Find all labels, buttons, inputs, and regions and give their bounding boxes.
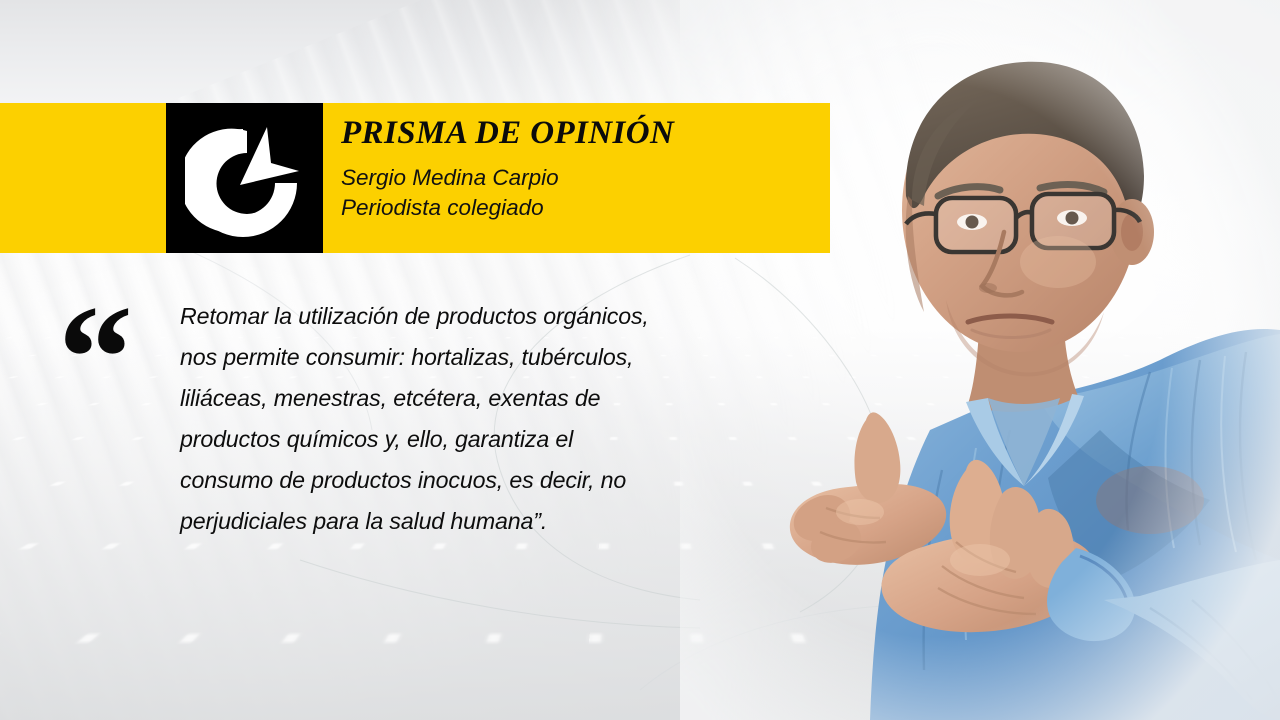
author-role: Periodista colegiado: [341, 193, 830, 223]
quote-line: liliáceas, menestras, etcétera, exentas …: [180, 378, 700, 419]
page-title: PRISMA DE OPINIÓN: [341, 116, 830, 151]
quote-text: Retomar la utilización de productos orgá…: [180, 296, 700, 542]
quote-line: nos permite consumir: hortalizas, tubérc…: [180, 337, 700, 378]
quote-line: perjudiciales para la salud humana”.: [180, 501, 700, 542]
poster-canvas: PRISMA DE OPINIÓN Sergio Medina Carpio P…: [0, 0, 1280, 720]
logo-container: [166, 103, 323, 253]
header-banner: PRISMA DE OPINIÓN Sergio Medina Carpio P…: [0, 103, 830, 253]
quote-block: “ Retomar la utilización de productos or…: [0, 296, 760, 542]
open-quote-icon: “: [58, 304, 127, 412]
author-block: Sergio Medina Carpio Periodista colegiad…: [341, 163, 830, 223]
banner-left-spacer: [0, 103, 166, 253]
prisma-arrow-circle-logo-icon: [185, 119, 305, 237]
quote-line: Retomar la utilización de productos orgá…: [180, 296, 700, 337]
banner-text-block: PRISMA DE OPINIÓN Sergio Medina Carpio P…: [323, 103, 830, 253]
quote-line: consumo de productos inocuos, es decir, …: [180, 460, 700, 501]
quote-line: productos químicos y, ello, garantiza el: [180, 419, 700, 460]
author-name: Sergio Medina Carpio: [341, 163, 830, 193]
